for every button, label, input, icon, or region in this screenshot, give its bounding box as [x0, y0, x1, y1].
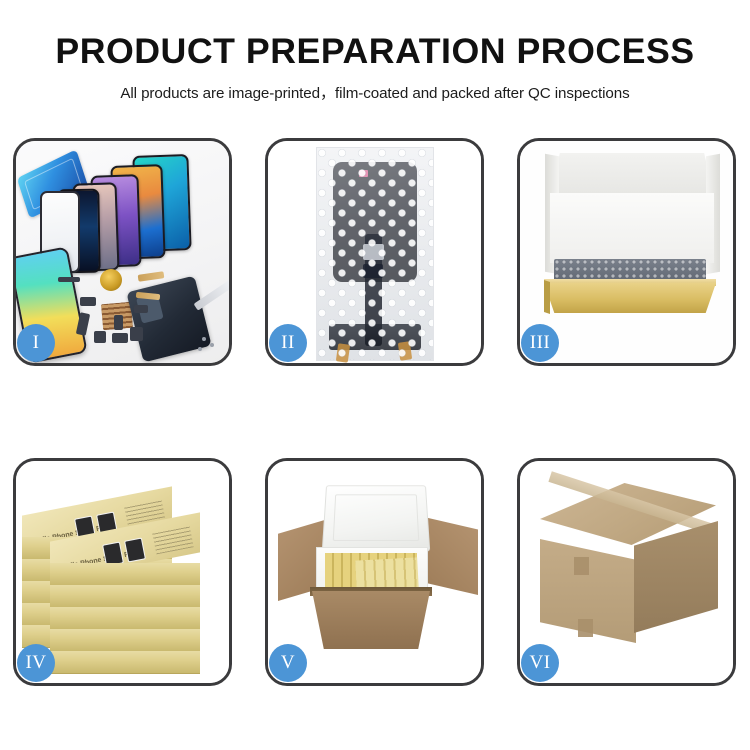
kraft-box	[50, 585, 200, 607]
small-part-icon	[134, 305, 148, 313]
foam-lid-icon	[322, 485, 430, 551]
kraft-box	[50, 651, 200, 673]
step-panel-3[interactable]: III	[517, 138, 736, 366]
page-subtitle: All products are image-printed，film-coat…	[0, 81, 750, 103]
page-title: PRODUCT PREPARATION PROCESS	[0, 34, 750, 71]
carton-tab-icon	[578, 619, 593, 637]
box-lid-icon	[550, 153, 714, 197]
small-part-icon	[94, 331, 106, 343]
box-corner-edge	[544, 280, 550, 314]
step-panel-4[interactable]: Mobile Phone Spare Parts Mobile Phone Sp…	[13, 458, 232, 686]
screw-icon	[202, 337, 206, 341]
kraft-box	[50, 563, 200, 585]
step-badge-2: II	[269, 324, 307, 362]
page-header: PRODUCT PREPARATION PROCESS All products…	[0, 0, 750, 103]
carton-tab-icon	[574, 557, 589, 575]
screw-icon	[210, 343, 214, 347]
small-part-icon	[58, 277, 80, 282]
step-badge-6: VI	[521, 644, 559, 682]
step-badge-5: V	[269, 644, 307, 682]
gold-coil-part-icon	[100, 269, 122, 291]
product-photo-icon	[124, 537, 146, 562]
small-part-icon	[130, 327, 143, 341]
bubble-wrap-bag	[316, 147, 434, 361]
step-badge-1: I	[17, 324, 55, 362]
kraft-box	[50, 607, 200, 629]
step-badge-4: IV	[17, 644, 55, 682]
step-panel-6[interactable]: VI	[517, 458, 736, 686]
screw-icon	[198, 347, 202, 351]
step-badge-3: III	[521, 324, 559, 362]
step-panel-2[interactable]: II	[265, 138, 484, 366]
box-interior	[550, 193, 714, 263]
step-panel-5[interactable]: V	[265, 458, 484, 686]
process-steps-grid: I II	[13, 138, 737, 686]
small-part-icon	[112, 333, 128, 343]
step-panel-1[interactable]: I	[13, 138, 232, 366]
bubble-texture	[317, 148, 433, 360]
small-part-icon	[80, 297, 96, 306]
carton-flap-right	[424, 517, 478, 595]
kraft-box	[50, 629, 200, 651]
small-part-icon	[114, 315, 123, 330]
kraft-box-front	[544, 283, 716, 313]
carton-body	[312, 591, 430, 649]
